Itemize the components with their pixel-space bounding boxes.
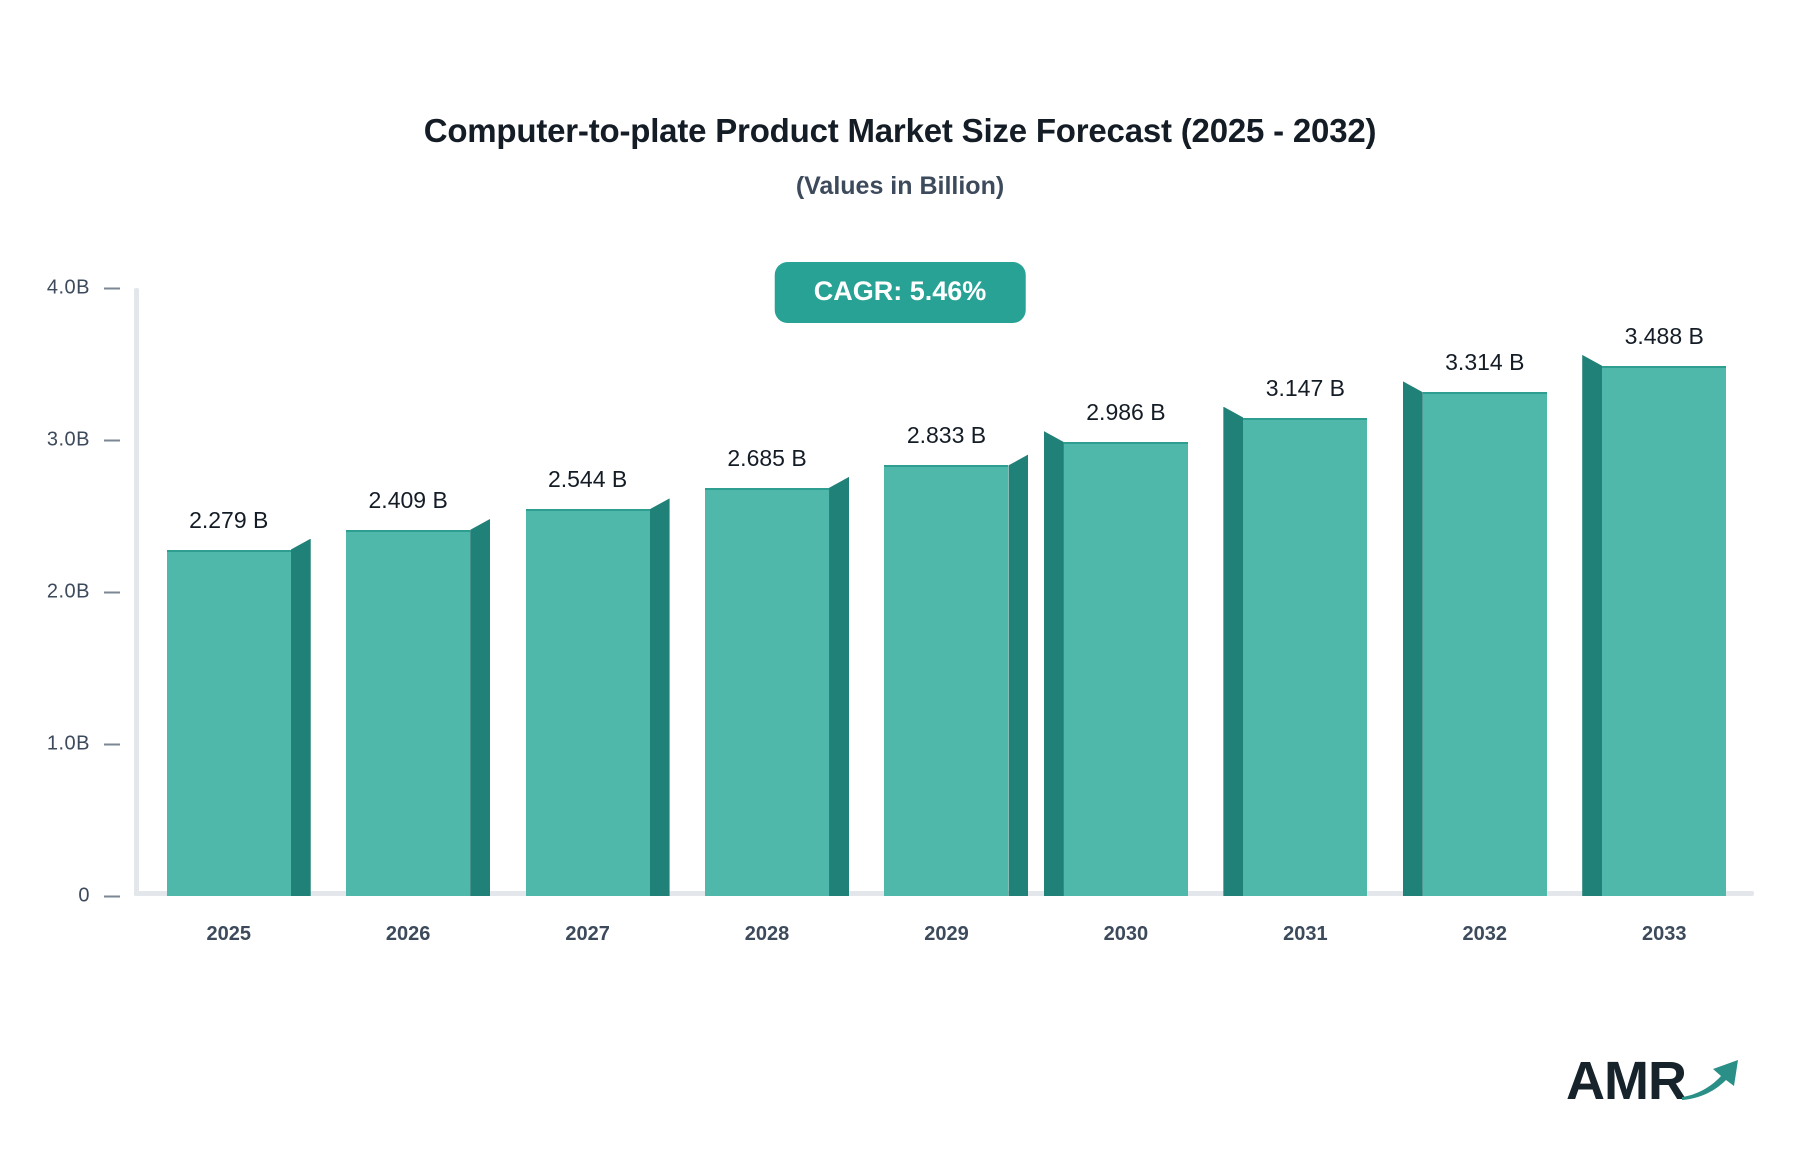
bar-2032[interactable]: 3.314 B2032 [1423,392,1547,896]
bar-2027[interactable]: 2.544 B2027 [526,509,650,896]
bar-value-label: 2.544 B [548,466,627,493]
x-axis-label-2026: 2026 [386,923,431,946]
bar-slot: 2.279 B2025 [139,288,318,896]
bar-value-label: 3.314 B [1445,349,1524,376]
bar-side-face [1582,355,1602,896]
amr-logo: AMR [1566,1054,1742,1108]
x-axis-label-2028: 2028 [745,923,790,946]
bar-face [1423,392,1547,896]
bar-slot: 2.833 B2029 [857,288,1036,896]
y-axis-tick-mark [104,439,120,441]
x-axis-label-2032: 2032 [1463,923,1508,946]
bar-slot: 2.409 B2026 [318,288,497,896]
y-axis-tick-mark [104,743,120,745]
bar-side-face [1403,381,1423,896]
bar-2031[interactable]: 3.147 B2031 [1243,418,1367,896]
amr-logo-text: AMR [1566,1054,1686,1108]
chart-canvas: Computer-to-plate Product Market Size Fo… [0,0,1800,1156]
y-axis-tick: 0 [78,885,134,908]
bar-2030[interactable]: 2.986 B2030 [1064,442,1188,896]
bar-side-face [1008,454,1028,896]
y-axis-tick: 1.0B [47,733,134,756]
bar-value-label: 2.986 B [1086,399,1165,426]
bar-2028[interactable]: 2.685 B2028 [705,488,829,896]
chart-title: Computer-to-plate Product Market Size Fo… [0,112,1800,150]
y-axis-tick-label: 1.0B [47,733,90,756]
bar-slot: 2.685 B2028 [677,288,856,896]
bar-series: 2.279 B20252.409 B20262.544 B20272.685 B… [139,288,1754,896]
bar-slot: 3.314 B2032 [1395,288,1574,896]
x-axis-label-2025: 2025 [206,923,251,946]
bar-side-face [470,519,490,896]
bar-face [346,530,470,896]
plot-area: 4.0B3.0B2.0B1.0B0 2.279 B20252.409 B2026… [134,288,1754,896]
bar-face [705,488,829,896]
bar-2033[interactable]: 3.488 B2033 [1602,366,1726,896]
bar-slot: 3.488 B2033 [1575,288,1754,896]
bar-value-label: 2.279 B [189,507,268,534]
bar-face [884,465,1008,896]
x-axis-label-2033: 2033 [1642,923,1687,946]
bar-value-label: 2.685 B [727,445,806,472]
y-axis-tick: 4.0B [47,277,134,300]
y-axis-tick-mark [104,591,120,593]
bar-side-face [829,477,849,896]
y-axis-tick-mark [104,895,120,897]
x-axis-label-2031: 2031 [1283,923,1328,946]
growth-arrow-icon [1680,1055,1742,1106]
bar-value-label: 3.488 B [1625,323,1704,350]
bar-value-label: 2.409 B [369,487,448,514]
bar-value-label: 3.147 B [1266,375,1345,402]
bar-face [1602,366,1726,896]
bar-face [1064,442,1188,896]
bar-slot: 2.986 B2030 [1036,288,1215,896]
bar-side-face [291,539,311,896]
bar-face [1243,418,1367,896]
bar-2029[interactable]: 2.833 B2029 [884,465,1008,896]
bar-slot: 2.544 B2027 [498,288,677,896]
bar-side-face [1044,431,1064,896]
bar-face [167,550,291,896]
bar-value-label: 2.833 B [907,422,986,449]
y-axis-tick-label: 2.0B [47,581,90,604]
bar-2026[interactable]: 2.409 B2026 [346,530,470,896]
bar-slot: 3.147 B2031 [1216,288,1395,896]
y-axis-tick: 3.0B [47,429,134,452]
bar-side-face [650,498,670,896]
y-axis-tick: 2.0B [47,581,134,604]
bar-2025[interactable]: 2.279 B2025 [167,550,291,896]
chart-subtitle: (Values in Billion) [0,172,1800,201]
x-axis-label-2029: 2029 [924,923,969,946]
y-axis-tick-label: 0 [78,885,90,908]
x-axis-label-2030: 2030 [1104,923,1149,946]
y-axis-tick-mark [104,287,120,289]
y-axis-tick-label: 3.0B [47,429,90,452]
y-axis-tick-label: 4.0B [47,277,90,300]
x-axis-label-2027: 2027 [565,923,610,946]
bar-face [526,509,650,896]
bar-side-face [1223,407,1243,896]
